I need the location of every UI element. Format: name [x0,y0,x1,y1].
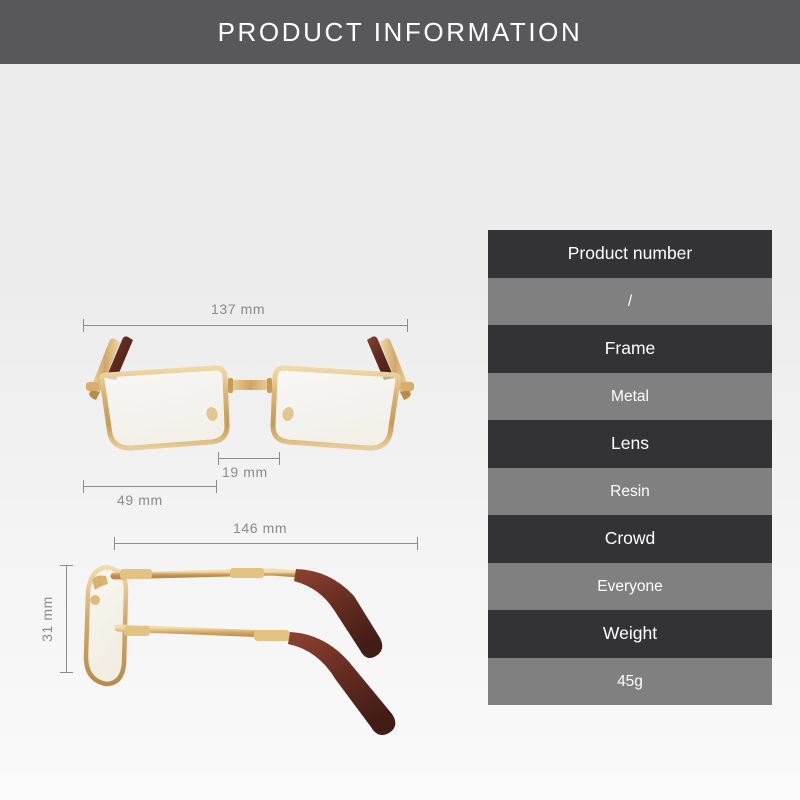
spec-cell-text: Crowd [605,530,656,548]
table-row: Resin [488,468,772,516]
bridge-label: 19 mm [222,465,268,479]
spec-cell-text: / [628,294,632,310]
lens-width-label: 49 mm [117,493,163,507]
page-header: PRODUCT INFORMATION [0,0,800,64]
eyeglasses-front-photo [60,318,440,468]
spec-cell-text: Resin [610,484,650,500]
table-row: Frame [488,325,772,373]
spec-cell-text: Everyone [597,579,662,595]
spec-cell-text: 45g [617,674,643,690]
temple-length-dimension-line [114,543,418,544]
table-row: Lens [488,420,772,468]
eyeglasses-side-photo [62,552,442,752]
table-row: Crowd [488,515,772,563]
spec-cell-text: Lens [611,435,649,453]
table-row: 45g [488,658,772,706]
page-title: PRODUCT INFORMATION [218,19,583,45]
table-row: / [488,278,772,326]
table-row: Product number [488,230,772,278]
front-width-label: 137 mm [211,302,265,316]
table-row: Metal [488,373,772,421]
product-spec-table: Product number / Frame Metal Lens Resin … [488,230,772,705]
lens-width-dimension-line [83,486,217,487]
temple-length-label: 146 mm [233,521,287,535]
content-stage: 137 mm [0,64,800,800]
spec-cell-text: Product number [568,245,693,263]
spec-cell-text: Frame [605,340,656,358]
spec-cell-text: Metal [611,389,649,405]
bridge-dimension-line [218,458,280,459]
spec-cell-text: Weight [603,625,657,643]
table-row: Weight [488,610,772,658]
lens-height-label: 31 mm [40,589,54,649]
table-row: Everyone [488,563,772,611]
